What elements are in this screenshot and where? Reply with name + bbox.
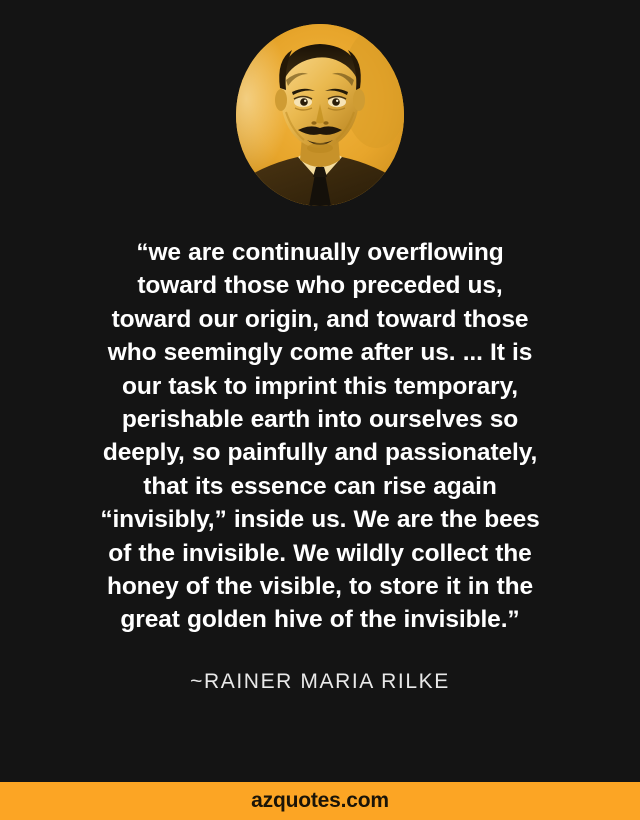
author-block: ~RAINER MARIA RILKE (0, 670, 640, 694)
footer-bar: azquotes.com (0, 782, 640, 820)
author-name: ~RAINER MARIA RILKE (0, 670, 640, 694)
quote-card: “we are continually overflowing toward t… (0, 0, 640, 820)
avatar (236, 24, 404, 206)
site-name[interactable]: azquotes.com (251, 789, 389, 813)
quote-block: “we are continually overflowing toward t… (0, 236, 640, 637)
quote-text: “we are continually overflowing toward t… (26, 236, 614, 637)
portrait-photo-icon (236, 24, 404, 206)
